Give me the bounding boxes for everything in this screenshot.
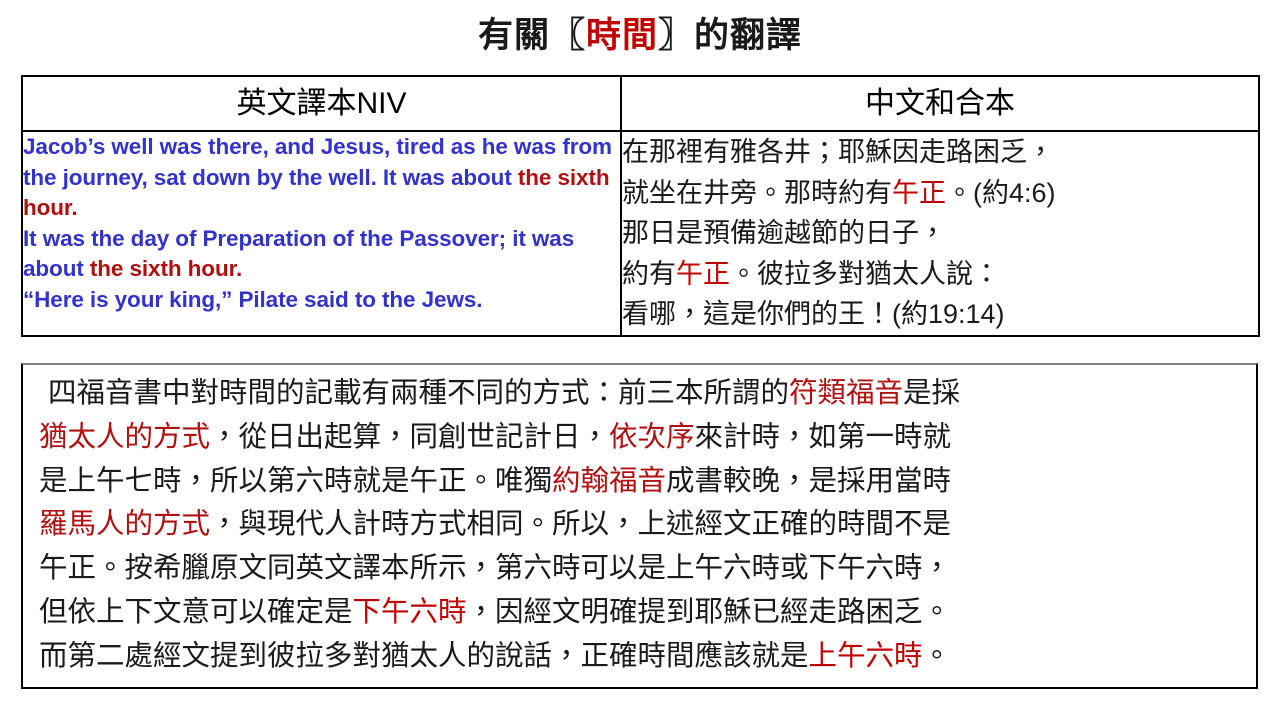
table-header-row: 英文譯本NIV 中文和合本 bbox=[22, 76, 1259, 131]
explanation-line-2-part-b: 來計時，如第一時就 bbox=[695, 421, 952, 453]
explanation-line-2-highlight-1: 猶太人的方式 bbox=[39, 421, 210, 453]
column-header-english: 英文譯本NIV bbox=[22, 76, 621, 131]
explanation-line-4-part-a: ，與現代人計時方式相同。所以，上述經文正確的時間不是 bbox=[210, 508, 951, 540]
explanation-line-3: 是上午七時，所以第六時就是午正。唯獨約翰福音成書較晚，是採用當時 bbox=[39, 460, 1248, 504]
explanation-line-3-highlight: 約翰福音 bbox=[552, 465, 666, 497]
column-header-chinese: 中文和合本 bbox=[621, 76, 1259, 131]
table-body-row: Jacob’s well was there, and Jesus, tired… bbox=[22, 131, 1259, 336]
en-line-3-plain: the well. It was about bbox=[289, 165, 518, 190]
explanation-line-1-part-a: 四福音書中對時間的記載有兩種不同的方式：前三本所謂的 bbox=[48, 377, 789, 409]
zh-line-2-part-a: 就坐在井旁。那時約有 bbox=[622, 178, 892, 208]
explanation-line-6-part-a: 但依上下文意可以確定是 bbox=[39, 596, 353, 628]
zh-line-4: 約有午正。彼拉多對猶太人說： bbox=[622, 254, 1258, 295]
zh-line-2: 就坐在井旁。那時約有午正。(約4:6) bbox=[622, 173, 1258, 214]
explanation-line-4: 羅馬人的方式，與現代人計時方式相同。所以，上述經文正確的時間不是 bbox=[39, 503, 1248, 547]
explanation-line-2-part-a: ，從日出起算，同創世記計日， bbox=[210, 421, 609, 453]
en-line-4: It was the day of Preparation of the bbox=[23, 226, 393, 251]
explanation-line-7: 而第二處經文提到彼拉多對猶太人的說話，正確時間應該就是上午六時。 bbox=[39, 635, 1248, 679]
zh-line-1: 在那裡有雅各井；耶穌因走路困乏， bbox=[622, 132, 1258, 173]
explanation-line-2-highlight-2: 依次序 bbox=[609, 421, 695, 453]
english-verse-cell: Jacob’s well was there, and Jesus, tired… bbox=[22, 131, 621, 336]
explanation-line-5: 午正。按希臘原文同英文譯本所示，第六時可以是上午六時或下午六時， bbox=[39, 547, 1248, 591]
explanation-line-4-highlight: 羅馬人的方式 bbox=[39, 508, 210, 540]
explanation-line-6-part-b: ，因經文明確提到耶穌已經走路困乏。 bbox=[467, 596, 952, 628]
explanation-line-7-part-a: 而第二處經文提到彼拉多對猶太人的說話，正確時間應該就是 bbox=[39, 640, 809, 672]
zh-line-5: 看哪，這是你們的王！(約19:14) bbox=[622, 294, 1258, 335]
verse-comparison-table: 英文譯本NIV 中文和合本 Jacob’s well was there, an… bbox=[21, 75, 1260, 337]
zh-line-2-highlight: 午正 bbox=[892, 178, 946, 208]
explanation-line-1: 四福音書中對時間的記載有兩種不同的方式：前三本所謂的符類福音是採 bbox=[39, 372, 1248, 416]
en-line-1: Jacob’s well was there, and Jesus, tired bbox=[23, 134, 445, 159]
page-title: 有關〖時間〗的翻譯 bbox=[0, 14, 1280, 58]
zh-line-3: 那日是預備逾越節的日子， bbox=[622, 213, 1258, 254]
explanation-panel: 四福音書中對時間的記載有兩種不同的方式：前三本所謂的符類福音是採 猶太人的方式，… bbox=[21, 363, 1258, 689]
zh-line-2-part-b: 。(約4:6) bbox=[946, 178, 1056, 208]
page-title-highlight: 時間 bbox=[586, 16, 658, 55]
explanation-line-6: 但依上下文意可以確定是下午六時，因經文明確提到耶穌已經走路困乏。 bbox=[39, 591, 1248, 635]
explanation-line-6-highlight: 下午六時 bbox=[353, 596, 467, 628]
en-line-6: “Here is your king,” Pilate said to the bbox=[23, 287, 415, 312]
en-line-5-highlight: the sixth hour. bbox=[90, 256, 242, 281]
zh-line-4-part-b: 。彼拉多對猶太人說： bbox=[730, 259, 1000, 289]
explanation-line-1-highlight: 符類福音 bbox=[789, 377, 903, 409]
page-title-part-2: 〗的翻譯 bbox=[658, 16, 802, 55]
page-title-part-1: 有關〖 bbox=[478, 16, 586, 55]
zh-line-4-highlight: 午正 bbox=[676, 259, 730, 289]
explanation-line-2: 猶太人的方式，從日出起算，同創世記計日，依次序來計時，如第一時就 bbox=[39, 416, 1248, 460]
explanation-line-1-part-b: 是採 bbox=[903, 377, 960, 409]
explanation-line-7-highlight: 上午六時 bbox=[809, 640, 923, 672]
explanation-line-3-part-a: 是上午七時，所以第六時就是午正。唯獨 bbox=[39, 465, 552, 497]
zh-line-4-part-a: 約有 bbox=[622, 259, 676, 289]
explanation-line-7-part-b: 。 bbox=[923, 640, 952, 672]
chinese-verse-cell: 在那裡有雅各井；耶穌因走路困乏， 就坐在井旁。那時約有午正。(約4:6) 那日是… bbox=[621, 131, 1259, 336]
en-line-7: Jews. bbox=[422, 287, 483, 312]
explanation-line-3-part-b: 成書較晚，是採用當時 bbox=[666, 465, 951, 497]
